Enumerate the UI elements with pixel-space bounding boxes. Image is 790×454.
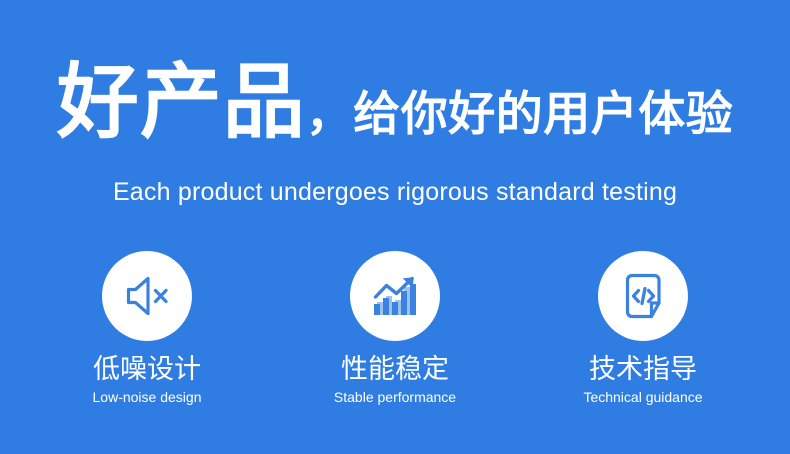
feature-subtitle-technical-guidance: Technical guidance: [583, 390, 702, 405]
feature-list: 低噪设计 Low-noise design: [0, 251, 790, 405]
promo-banner: 好产品，给你好的用户体验 Each product undergoes rigo…: [0, 0, 790, 454]
feature-title-technical-guidance: 技术指导: [589, 355, 697, 385]
feature-icon-badge-stable-performance: [350, 251, 440, 341]
growth-chart-icon: [371, 273, 419, 319]
feature-item-low-noise: 低噪设计 Low-noise design: [82, 251, 212, 405]
feature-subtitle-low-noise: Low-noise design: [93, 390, 202, 405]
feature-item-stable-performance: 性能稳定 Stable performance: [330, 251, 460, 405]
subtitle: Each product undergoes rigorous standard…: [0, 178, 790, 207]
code-document-icon: [621, 272, 665, 320]
headline-main-text: 好产品: [57, 57, 306, 148]
feature-item-technical-guidance: 技术指导 Technical guidance: [578, 251, 708, 405]
feature-icon-badge-technical-guidance: [598, 251, 688, 341]
feature-icon-badge-low-noise: [102, 251, 192, 341]
feature-subtitle-stable-performance: Stable performance: [334, 390, 456, 405]
headline-comma: ，: [306, 87, 354, 140]
feature-title-low-noise: 低噪设计: [93, 355, 201, 385]
headline: 好产品，给你好的用户体验: [0, 62, 790, 144]
speaker-mute-icon: [123, 274, 171, 318]
headline-sub-text: 给你好的用户体验: [353, 87, 733, 140]
feature-title-stable-performance: 性能稳定: [341, 355, 449, 385]
